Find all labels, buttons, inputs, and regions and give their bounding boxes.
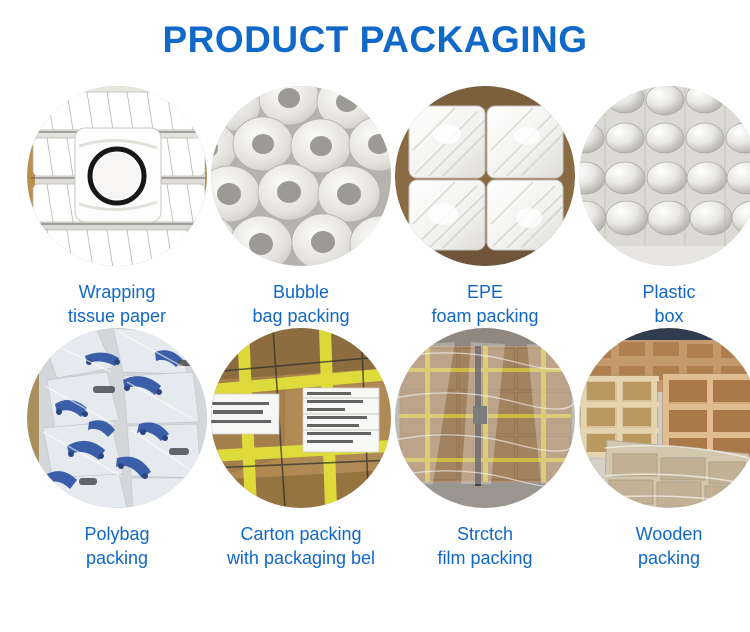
stretch-film-packing-image[interactable]: [395, 328, 575, 508]
gallery-item-caption: Carton packing with packaging bel: [201, 522, 401, 570]
gallery-row-1: Wrapping tissue paper: [0, 86, 750, 328]
gallery-item-caption: Wrapping tissue paper: [17, 280, 217, 328]
bubble-bag-packing-image[interactable]: [211, 86, 391, 266]
plastic-box-image[interactable]: [579, 86, 750, 266]
product-packaging-page: PRODUCT PACKAGING: [0, 0, 750, 632]
packaging-gallery: Wrapping tissue paper: [0, 86, 750, 570]
gallery-row-2: Polybag packing: [0, 328, 750, 570]
gallery-item-caption: Strctch film packing: [385, 522, 585, 570]
gallery-item-caption: EPE foam packing: [385, 280, 585, 328]
wrapping-tissue-paper-image[interactable]: [27, 86, 207, 266]
gallery-item-epe-foam-packing[interactable]: EPE foam packing: [395, 86, 575, 328]
gallery-item-caption: Bubble bag packing: [201, 280, 401, 328]
carton-packing-image[interactable]: [211, 328, 391, 508]
gallery-item-bubble-bag-packing[interactable]: Bubble bag packing: [211, 86, 391, 328]
epe-foam-packing-image[interactable]: [395, 86, 575, 266]
gallery-item-plastic-box[interactable]: Plastic box: [579, 86, 750, 328]
gallery-item-carton-packing-with-packaging-bel[interactable]: Carton packing with packaging bel: [211, 328, 391, 570]
page-title: PRODUCT PACKAGING: [0, 18, 750, 62]
gallery-item-wrapping-tissue-paper[interactable]: Wrapping tissue paper: [27, 86, 207, 328]
gallery-item-caption: Polybag packing: [17, 522, 217, 570]
wooden-packing-image[interactable]: [579, 328, 750, 508]
gallery-item-stretch-film-packing[interactable]: Strctch film packing: [395, 328, 575, 570]
polybag-packing-image[interactable]: [27, 328, 207, 508]
gallery-item-polybag-packing[interactable]: Polybag packing: [27, 328, 207, 570]
gallery-item-caption: Plastic box: [569, 280, 750, 328]
gallery-item-caption: Wooden packing: [569, 522, 750, 570]
gallery-item-wooden-packing[interactable]: Wooden packing: [579, 328, 750, 570]
